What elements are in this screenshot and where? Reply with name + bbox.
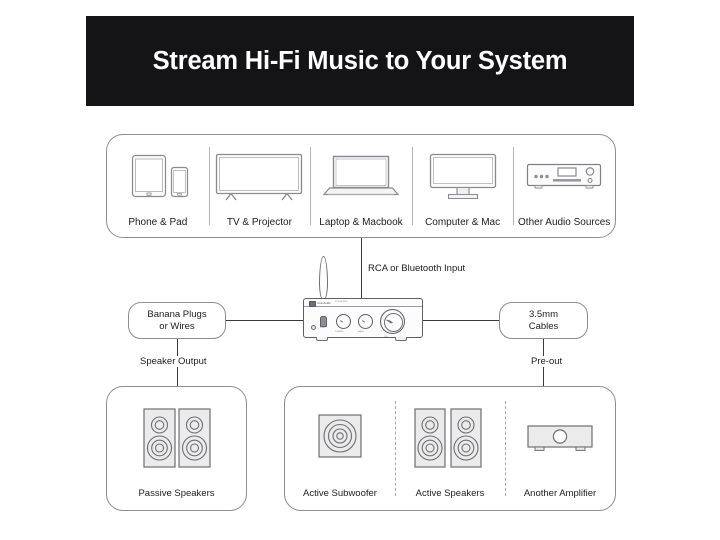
banana-plugs-line1: Banana Plugs [147, 309, 206, 320]
connector-amp-to-35mm-cables [422, 320, 499, 321]
stereo-speaker-pair-icon [107, 387, 246, 488]
bass-knob[interactable] [358, 314, 373, 329]
output-item-passive-speakers[interactable]: Passive Speakers [107, 387, 246, 510]
subwoofer-icon [285, 387, 395, 488]
amplifier-device[interactable]: Fosi Audio BT20A PRO PWR TREBLE BASS VOL [303, 256, 423, 346]
laptop-icon [310, 135, 412, 217]
power-led-icon [311, 325, 316, 330]
banana-plugs-text: Banana Plugs or Wires [147, 309, 206, 333]
cables-text: 3.5mm Cables [529, 309, 559, 333]
source-item-other-audio-sources[interactable]: Other Audio Sources [513, 135, 615, 237]
diagram-canvas: Stream Hi-Fi Music to Your System Phone … [0, 0, 720, 540]
amplifier-box-icon [505, 387, 615, 488]
antenna-icon [319, 256, 328, 300]
active-output-panel: Active Subwoofer [284, 386, 616, 511]
cables-line1: 3.5mm [529, 309, 558, 320]
output-label: Active Speakers [416, 488, 485, 500]
treble-knob[interactable] [336, 314, 351, 329]
brand-logo-icon [309, 301, 316, 308]
source-label: TV & Projector [227, 217, 292, 229]
treble-knob-label: TREBLE [335, 331, 344, 333]
speaker-output-label: Speaker Output [138, 356, 209, 367]
output-item-active-subwoofer[interactable]: Active Subwoofer [285, 387, 395, 510]
page-title: Stream Hi-Fi Music to Your System [153, 47, 568, 76]
volume-knob-inner [384, 313, 403, 332]
bass-knob-label: BASS [358, 331, 364, 333]
preout-label: Pre-out [529, 356, 564, 367]
output-item-another-amplifier[interactable]: Another Amplifier [505, 387, 615, 510]
source-label: Other Audio Sources [518, 217, 610, 229]
output-label: Another Amplifier [524, 488, 596, 500]
volume-knob-label: VOL [384, 336, 388, 338]
volume-knob[interactable] [380, 309, 405, 334]
cables-line2: Cables [529, 321, 559, 332]
output-item-active-speakers[interactable]: Active Speakers [395, 387, 505, 510]
source-item-phone-and-pad[interactable]: Phone & Pad [107, 135, 209, 237]
connector-amp-to-banana-plugs [226, 320, 304, 321]
desktop-monitor-icon [412, 135, 514, 217]
output-label: Passive Speakers [138, 488, 214, 500]
passive-output-panel: Passive Speakers [106, 386, 247, 511]
output-label: Active Subwoofer [303, 488, 377, 500]
source-item-tv-and-projector[interactable]: TV & Projector [209, 135, 311, 237]
source-item-computer-and-mac[interactable]: Computer & Mac [412, 135, 514, 237]
brand-mark: Fosi Audio [309, 301, 331, 308]
source-label: Phone & Pad [128, 217, 187, 229]
brand-name: Fosi Audio [318, 302, 331, 305]
model-name: BT20A PRO [335, 301, 348, 303]
amplifier-faceplate: Fosi Audio BT20A PRO PWR TREBLE BASS VOL [303, 298, 423, 338]
source-label: Computer & Mac [425, 217, 500, 229]
banana-plugs-line2: or Wires [159, 321, 194, 332]
amplifier-foot-left [316, 337, 328, 341]
banana-plugs-box[interactable]: Banana Plugs or Wires [128, 302, 226, 339]
tablet-and-phone-icon [107, 135, 209, 217]
power-switch[interactable] [320, 316, 327, 327]
source-devices-panel: Phone & Pad TV & Projector [106, 134, 616, 238]
power-label: PWR [320, 327, 325, 329]
amplifier-foot-right [395, 337, 407, 341]
source-item-laptop-and-macbook[interactable]: Laptop & Macbook [310, 135, 412, 237]
title-banner: Stream Hi-Fi Music to Your System [86, 16, 634, 106]
television-icon [209, 135, 311, 217]
source-label: Laptop & Macbook [319, 217, 402, 229]
audio-receiver-icon [513, 135, 615, 217]
cables-box[interactable]: 3.5mm Cables [499, 302, 588, 339]
stereo-speaker-pair-icon [395, 387, 505, 488]
